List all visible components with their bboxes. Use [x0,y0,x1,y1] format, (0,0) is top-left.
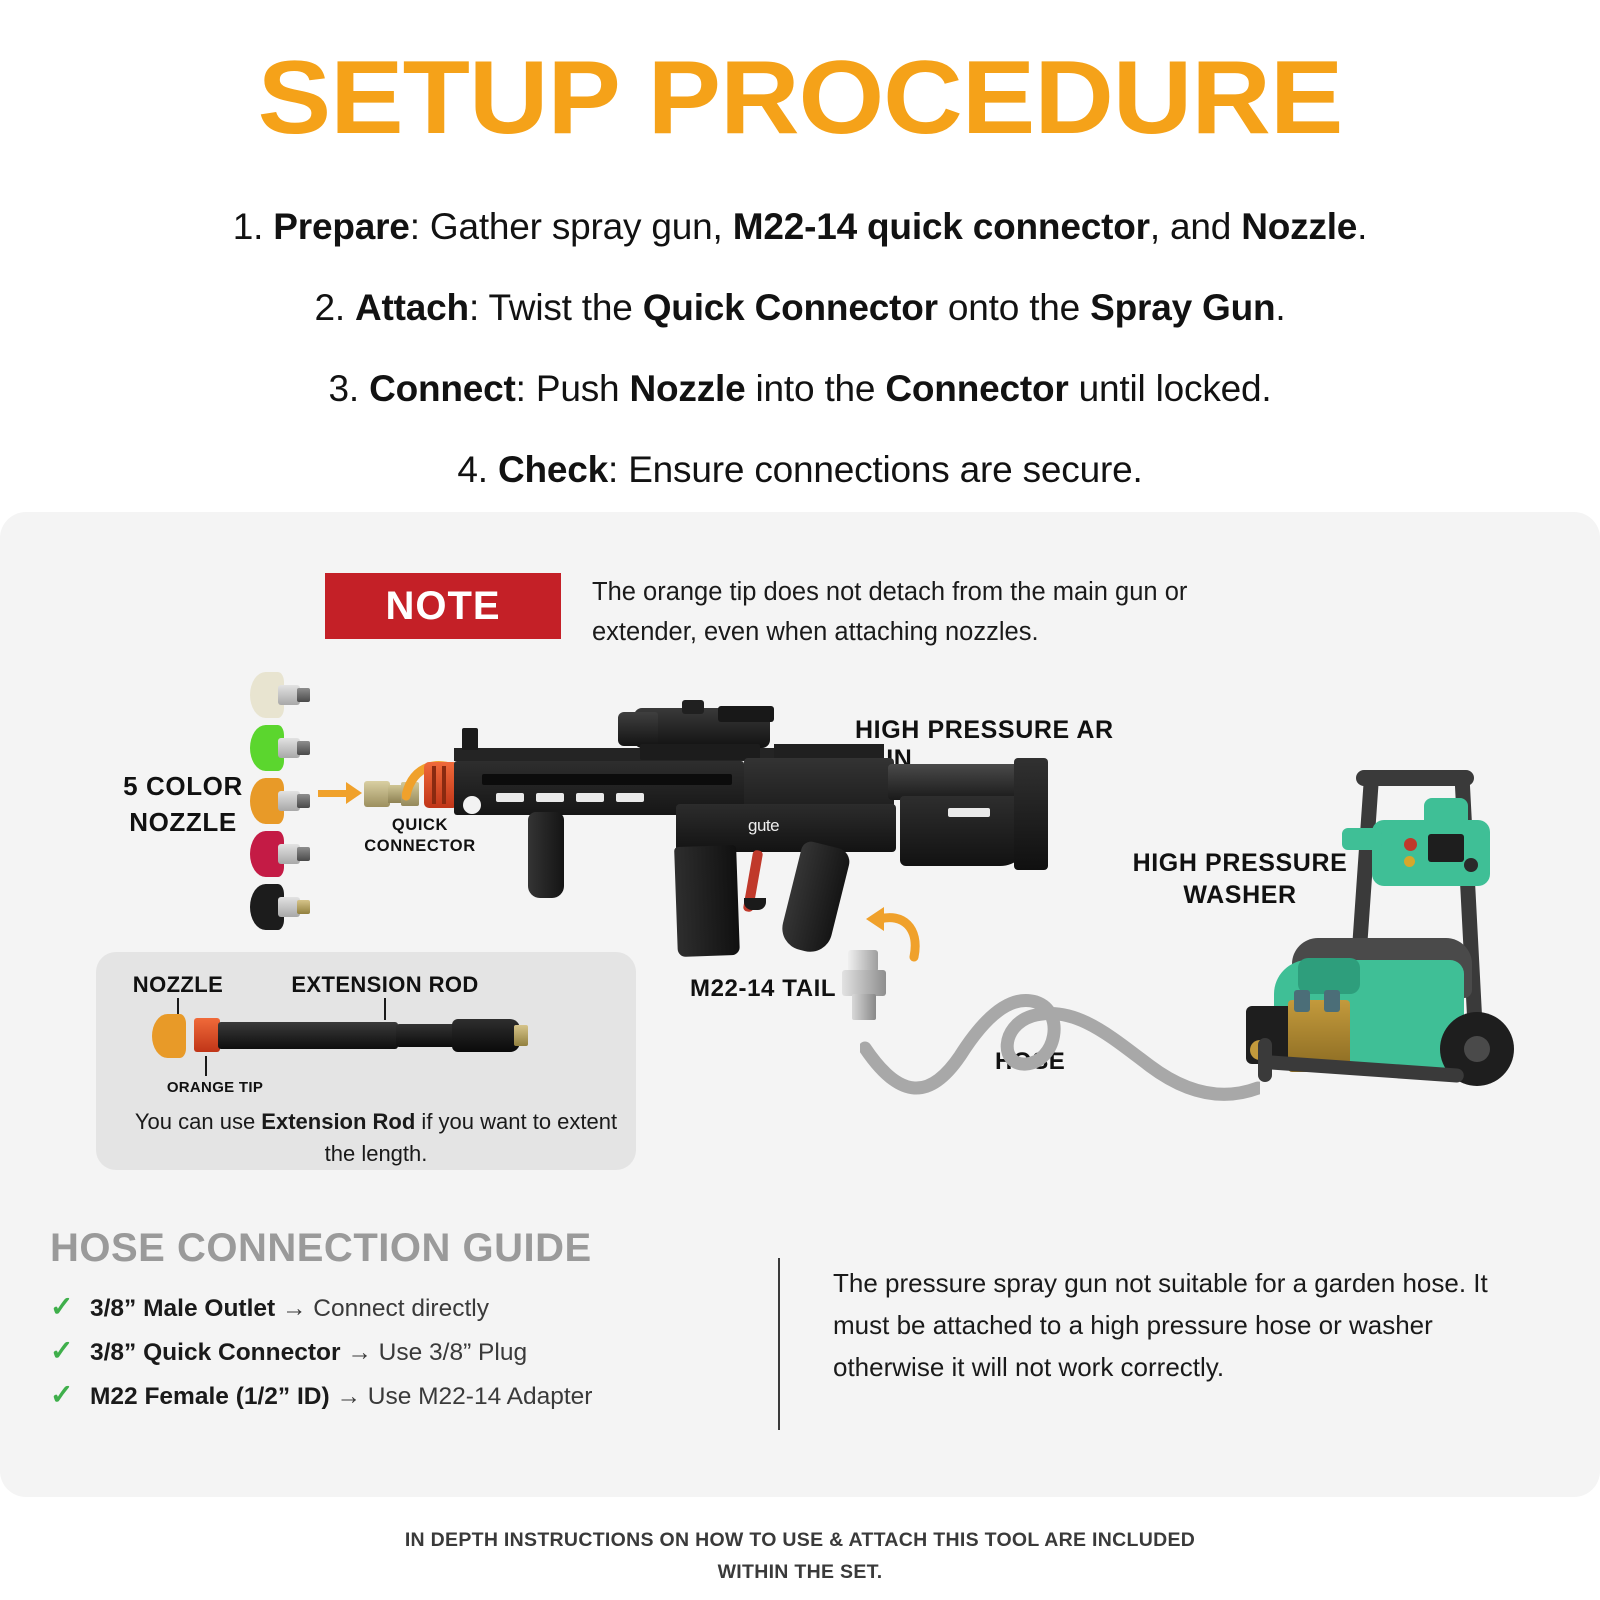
washer-pump-valve [1294,990,1310,1012]
check-icon: ✓ [50,1381,76,1409]
washer-indicator [1404,856,1415,867]
guide-row-text: 3/8” Male Outlet → Connect directly [90,1295,489,1323]
label-orange-tip: ORANGE TIP [152,1079,278,1096]
front-sight [462,728,478,750]
step-text: into the [745,368,885,409]
step-item: 1. Prepare: Gather spray gun, M22-14 qui… [0,186,1600,267]
step-item: 3. Connect: Push Nozzle into the Connect… [0,348,1600,429]
pistol-grip [778,840,853,957]
guide-row-rest: → Use 3/8” Plug [341,1339,528,1366]
handguard-rail-slot [482,774,732,785]
scope-mount [640,744,760,760]
scope-objective [618,712,658,746]
footer-note: IN DEPTH INSTRUCTIONS ON HOW TO USE & AT… [0,1524,1600,1588]
step-number: 3. [329,368,370,409]
check-icon: ✓ [50,1293,76,1321]
high-pressure-ar-gun: gute [418,700,1058,940]
orange-nozzle [250,778,314,824]
high-pressure-hose [860,960,1260,1120]
leader-line-rod [384,998,386,1020]
ext-note-a: You can use [135,1109,261,1134]
step-emphasis: Connector [885,368,1068,409]
handguard-vent [536,793,564,802]
guide-row-rest: → Connect directly [275,1295,489,1322]
step-separator: : [469,287,489,328]
nozzle-tip [297,688,310,702]
guide-divider [778,1258,780,1430]
washer-body-recess [1298,958,1360,994]
step-text: until locked. [1069,368,1272,409]
step-lead: Attach [355,287,469,328]
step-number: 4. [457,449,498,490]
washer-carry-grip [1424,798,1468,828]
step-text: . [1357,206,1367,247]
step-separator: : [516,368,536,409]
step-emphasis: M22-14 quick connector [733,206,1150,247]
step-item: 2. Attach: Twist the Quick Connector ont… [0,267,1600,348]
high-pressure-washer [1228,762,1558,1112]
flow-arrow-shaft [318,790,348,797]
nozzle-tip [297,741,310,755]
steps-list: 1. Prepare: Gather spray gun, M22-14 qui… [0,186,1600,510]
footer-line-1: IN DEPTH INSTRUCTIONS ON HOW TO USE & AT… [405,1529,1195,1551]
nozzle-tip [297,847,310,861]
footer-line-2: WITHIN THE SET. [718,1561,883,1583]
note-text: The orange tip does not detach from the … [592,572,1292,652]
washer-side-hook [1342,828,1382,850]
guide-row-text: M22 Female (1/2” ID) → Use M22-14 Adapte… [90,1383,592,1411]
step-separator: : [608,449,628,490]
handguard-hole [463,796,481,814]
muzzle-groove [442,766,446,804]
step-lead: Connect [369,368,516,409]
label-line-2: NOZZLE [129,807,237,837]
washer-display [1428,834,1464,862]
step-text: Push [536,368,630,409]
flow-arrow-head [346,782,362,804]
white-nozzle [250,672,314,718]
check-icon: ✓ [50,1337,76,1365]
handguard-vent [576,793,604,802]
handguard-vent [496,793,524,802]
guide-list: ✓3/8” Male Outlet → Connect directly✓3/8… [50,1293,740,1425]
guide-row-rest: → Use M22-14 Adapter [330,1383,593,1410]
page-title: SETUP PROCEDURE [0,46,1600,150]
washer-base-leg [1258,1038,1272,1082]
step-emphasis: Nozzle [629,368,745,409]
green-nozzle [250,725,314,771]
note-badge-label: NOTE [385,584,500,629]
step-text: onto the [938,287,1090,328]
guide-row-bold: M22 Female (1/2” ID) [90,1383,330,1410]
step-lead: Prepare [273,206,409,247]
step-emphasis: Quick Connector [643,287,938,328]
scope-accessory [718,706,774,722]
qc-body [364,781,390,807]
ext-rod-grip [452,1019,520,1052]
guide-row: ✓3/8” Quick Connector → Use 3/8” Plug [50,1337,740,1381]
nozzle-tip [297,794,310,808]
step-separator: : [410,206,430,247]
washer-knob [1464,858,1478,872]
guide-row-bold: 3/8” Male Outlet [90,1295,275,1322]
note-badge: NOTE [325,573,561,639]
stock-slot [948,808,990,817]
scope-turret [682,700,704,714]
step-text: . [1275,287,1285,328]
lower-receiver [676,804,896,852]
step-number: 1. [233,206,274,247]
step-number: 2. [314,287,355,328]
black-nozzle [250,884,314,930]
washer-wheel-hub [1464,1036,1490,1062]
step-text: Twist the [488,287,642,328]
nozzle-tip [297,900,310,914]
stock-body [900,796,1030,866]
guide-row-bold: 3/8” Quick Connector [90,1339,341,1366]
guide-title: HOSE CONNECTION GUIDE [50,1226,592,1271]
label-line-1: 5 COLOR [123,771,243,801]
step-text: , and [1150,206,1241,247]
muzzle-groove [432,766,436,804]
ext-rod-mid [396,1024,460,1047]
label-extension-rod: EXTENSION ROD [274,972,496,998]
guide-row-text: 3/8” Quick Connector → Use 3/8” Plug [90,1339,527,1367]
qc-neck [388,785,402,803]
step-item: 4. Check: Ensure connections are secure. [0,429,1600,510]
magazine [674,845,740,957]
trigger-guard [744,898,766,910]
washer-power-button [1404,838,1417,851]
extension-rod-note: You can use Extension Rod if you want to… [126,1106,626,1170]
ext-orange-nozzle [152,1014,200,1058]
red-nozzle [250,831,314,877]
orange-muzzle-tip [424,762,458,808]
ext-rod-shaft [218,1022,398,1049]
butt-pad [1014,758,1048,870]
step-text: Gather spray gun, [430,206,733,247]
step-emphasis: Nozzle [1241,206,1357,247]
gun-brand-mark: gute [748,816,779,836]
step-lead: Check [498,449,608,490]
ext-orange-tip [194,1018,220,1052]
washer-pump-valve [1324,990,1340,1012]
guide-row: ✓3/8” Male Outlet → Connect directly [50,1293,740,1337]
guide-paragraph: The pressure spray gun not suitable for … [833,1262,1533,1388]
handguard-vent [616,793,644,802]
leader-line-orange-tip [205,1056,207,1076]
step-text: Ensure connections are secure. [628,449,1142,490]
vertical-foregrip [528,812,564,898]
ext-rod-brass-end [514,1025,528,1046]
label-ext-nozzle: NOZZLE [126,972,230,998]
ext-note-b: Extension Rod [261,1109,415,1134]
step-emphasis: Spray Gun [1090,287,1275,328]
guide-row: ✓M22 Female (1/2” ID) → Use M22-14 Adapt… [50,1381,740,1425]
